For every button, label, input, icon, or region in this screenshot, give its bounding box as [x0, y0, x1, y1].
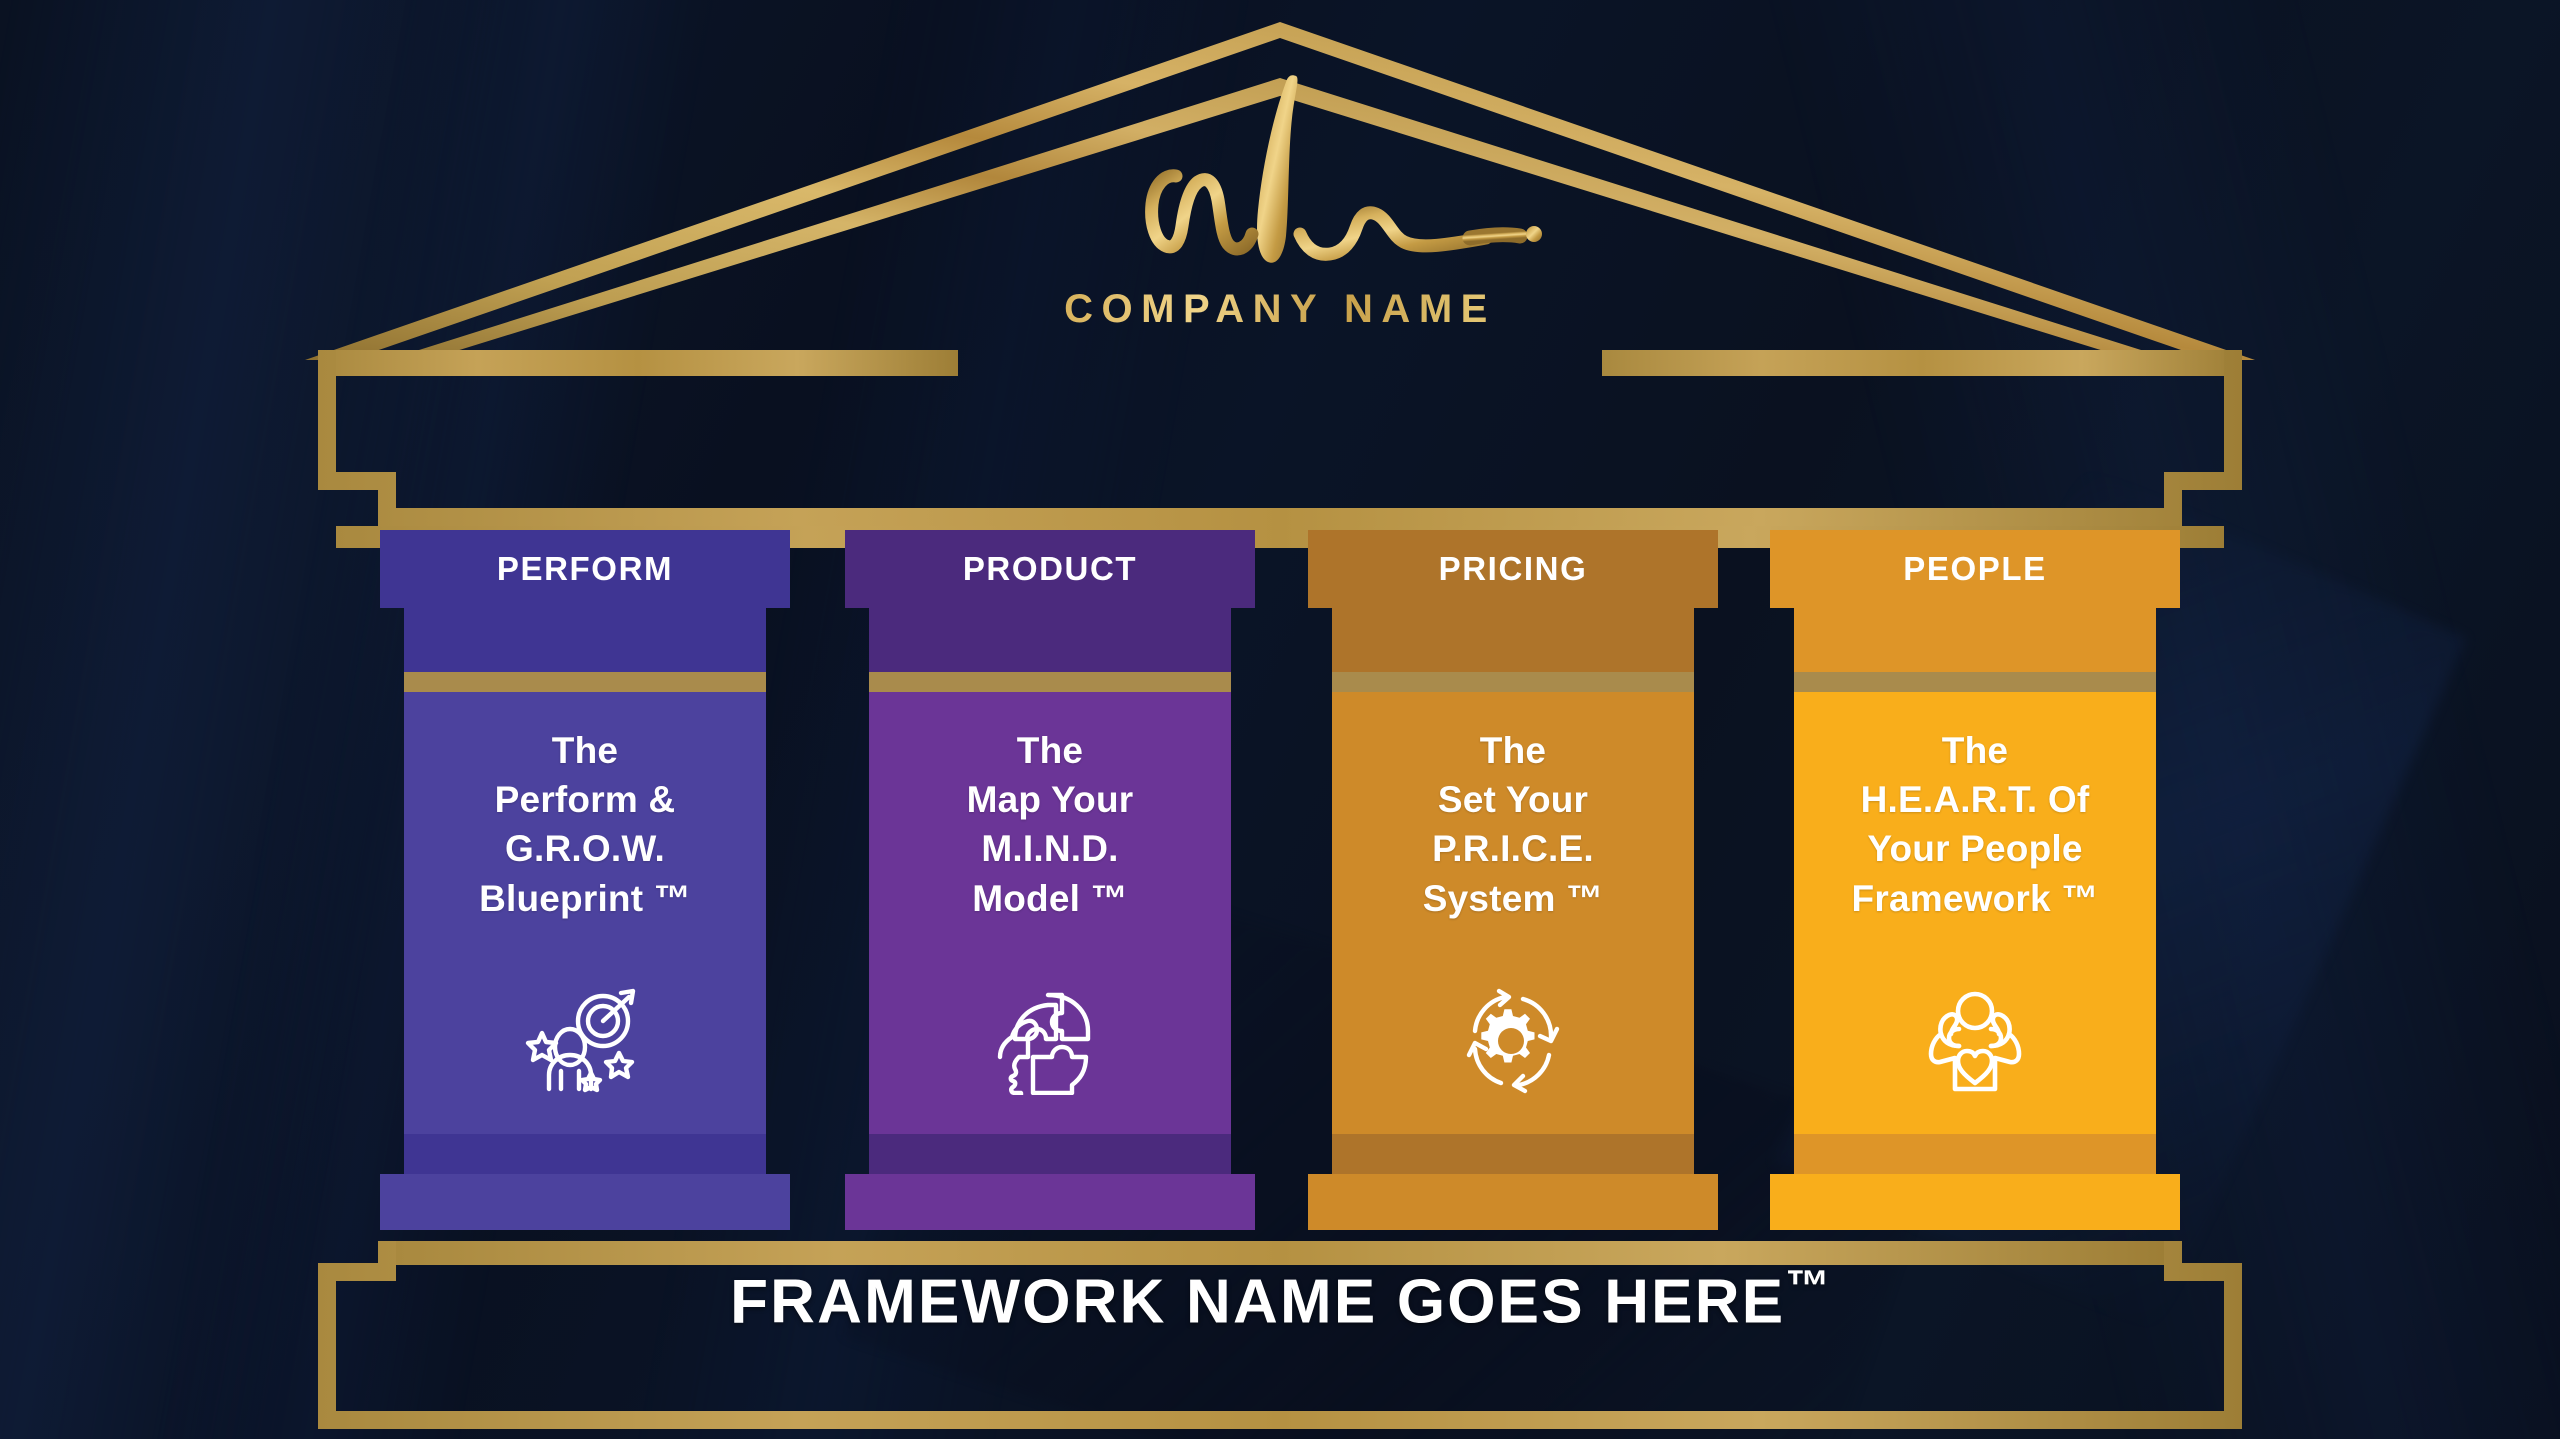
pillar-eyebrow-label: PEOPLE — [1770, 530, 2180, 608]
pillar-pricing[interactable]: PRICING The Set Your P.R.I.C.E. System ™ — [1308, 530, 1718, 1230]
pillar-title-block: The Map Your M.I.N.D. Model ™ — [875, 726, 1225, 923]
pillar-gold-band — [404, 672, 766, 692]
pillar-eyebrow-label: PERFORM — [380, 530, 790, 608]
company-name: COMPANY NAME — [930, 287, 1630, 332]
pillar-title-line: P.R.I.C.E. — [1338, 824, 1688, 873]
pillar-title-line: The — [1338, 726, 1688, 775]
pillar-base-mid — [869, 1134, 1231, 1178]
pillar-title-line: M.I.N.D. — [875, 824, 1225, 873]
pillar-group: PERFORM The Perform & G.R.O.W. Blueprint… — [0, 530, 2560, 1230]
pillar-gold-band — [1332, 672, 1694, 692]
pillar-base-mid — [404, 1134, 766, 1178]
pillar-perform[interactable]: PERFORM The Perform & G.R.O.W. Blueprint… — [380, 530, 790, 1230]
framework-name-text: FRAMEWORK NAME GOES HERE — [730, 1268, 1785, 1337]
pillar-gold-band — [1794, 672, 2156, 692]
pillar-neck — [1332, 608, 1694, 676]
trademark-symbol: ™ — [1785, 1262, 1830, 1311]
pillar-title-line: Blueprint ™ — [410, 874, 760, 923]
pillar-neck — [404, 608, 766, 676]
pillar-title-line: The — [410, 726, 760, 775]
pillar-base-mid — [1332, 1134, 1694, 1178]
brand-logo: COMPANY NAME — [930, 58, 1630, 332]
pillar-title-line: G.R.O.W. — [410, 824, 760, 873]
pillar-eyebrow-label: PRODUCT — [845, 530, 1255, 608]
pillar-title-line: H.E.A.R.T. Of — [1800, 775, 2150, 824]
pillar-title-line: System ™ — [1338, 874, 1688, 923]
pillar-people[interactable]: PEOPLE The H.E.A.R.T. Of Your People Fra… — [1770, 530, 2180, 1230]
pillar-eyebrow-label: PRICING — [1308, 530, 1718, 608]
pillar-title-line: Perform & — [410, 775, 760, 824]
pillar-title-line: Set Your — [1338, 775, 1688, 824]
pillar-title-line: Your People — [1800, 824, 2150, 873]
head-puzzle-icon — [845, 985, 1255, 1095]
pillar-title-line: Model ™ — [875, 874, 1225, 923]
entablature-frame — [0, 330, 2560, 560]
pillar-product[interactable]: PRODUCT The Map Your M.I.N.D. Model ™ — [845, 530, 1255, 1230]
pillar-title-block: The Perform & G.R.O.W. Blueprint ™ — [410, 726, 760, 923]
pillar-neck — [1794, 608, 2156, 676]
pillar-gold-band — [869, 672, 1231, 692]
pillar-title-line: The — [1800, 726, 2150, 775]
framework-name-banner: FRAMEWORK NAME GOES HERE™ — [0, 1262, 2560, 1338]
pillar-title-line: Framework ™ — [1800, 874, 2150, 923]
infographic-canvas: COMPANY NAME PERFORM The Perform & G.R.O… — [0, 0, 2560, 1439]
pillar-neck — [869, 608, 1231, 676]
pillar-title-block: The H.E.A.R.T. Of Your People Framework … — [1800, 726, 2150, 923]
pillar-base-mid — [1794, 1134, 2156, 1178]
pillar-title-block: The Set Your P.R.I.C.E. System ™ — [1338, 726, 1688, 923]
pillar-title-line: Map Your — [875, 775, 1225, 824]
pillar-title-line: The — [875, 726, 1225, 775]
gear-cycle-icon — [1308, 985, 1718, 1095]
nl-signature-icon — [1000, 58, 1560, 293]
person-target-stars-icon — [380, 985, 790, 1095]
person-flex-heart-icon — [1770, 985, 2180, 1095]
